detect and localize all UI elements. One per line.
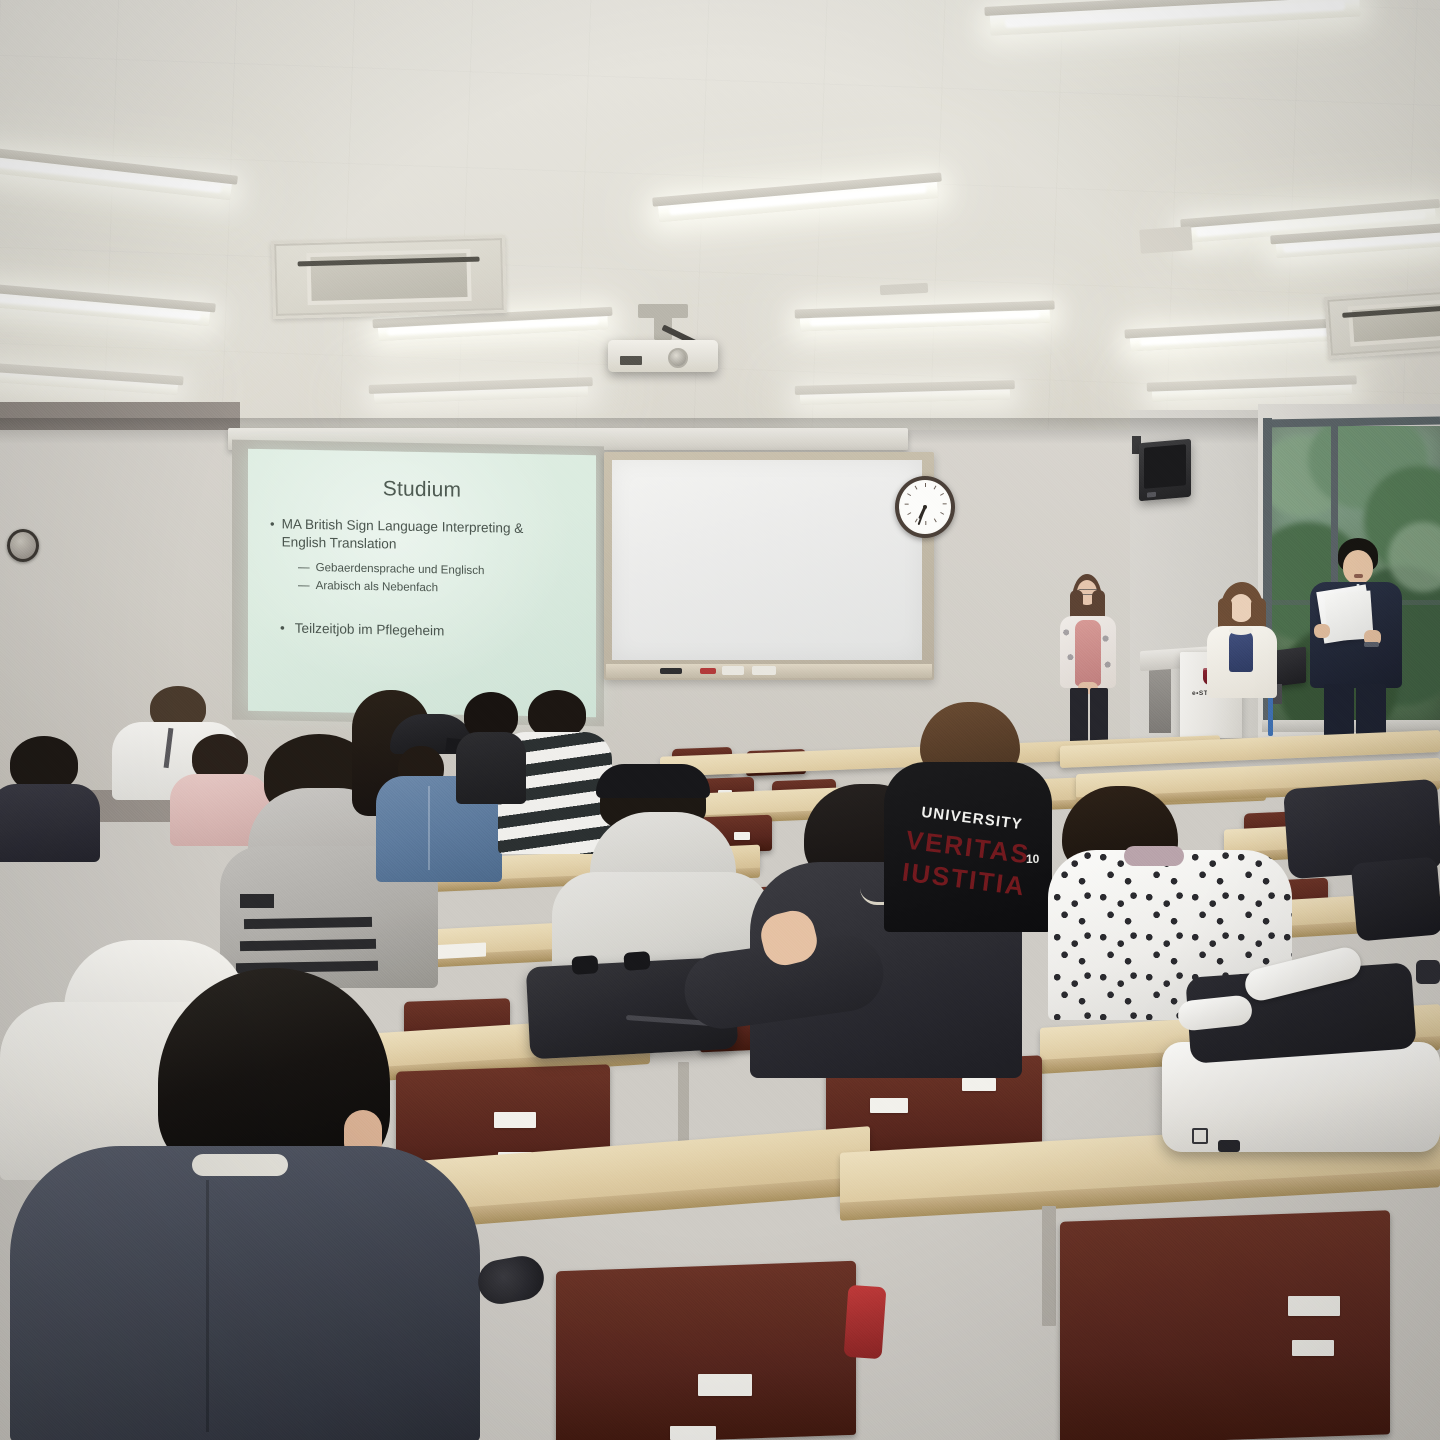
lecture-hall-photo: Studium • MA British Sign Language Inter… — [0, 0, 1440, 1440]
red-object — [844, 1285, 887, 1359]
projector-lens — [668, 348, 688, 368]
slide-subitem: — Arabisch als Nebenfach — [298, 577, 582, 600]
backpack-strap — [623, 951, 650, 971]
ceiling-ac-vent — [271, 235, 507, 319]
backpack-strap — [571, 955, 598, 975]
wristwatch-icon — [1364, 642, 1379, 647]
slide-bullet-text: MA British Sign Language Interpreting & … — [282, 515, 537, 556]
slide-bullet: • Teilzeitjob im Pflegeheim — [280, 620, 582, 641]
eraser-icon — [722, 666, 744, 675]
presenter-center — [1205, 582, 1279, 702]
tshirt-sleeve-mark: 10 — [1026, 852, 1048, 866]
collar — [1124, 846, 1184, 866]
small-wall-clock-icon — [7, 529, 39, 562]
chair-back — [1060, 1210, 1390, 1440]
presenter-left — [1056, 572, 1120, 744]
bag-clip-icon — [1218, 1140, 1240, 1152]
suit-jacket — [10, 1146, 480, 1440]
marker-icon — [660, 668, 682, 674]
bag-dring-icon — [1192, 1128, 1208, 1144]
ceiling-panel — [1139, 226, 1193, 254]
slide-title: Studium — [248, 475, 596, 505]
whiteboard — [612, 460, 922, 660]
black-top — [456, 732, 526, 804]
chair-back — [556, 1261, 856, 1440]
jacket-pattern — [1062, 620, 1076, 682]
presentation-slide: Studium • MA British Sign Language Inter… — [248, 449, 596, 717]
jacket-pattern — [1100, 620, 1114, 682]
bullet-marker-icon: • — [280, 620, 285, 635]
hair — [528, 690, 586, 738]
jacket — [0, 784, 100, 862]
slide-bullet-text: Teilzeitjob im Pflegeheim — [295, 620, 445, 638]
trousers — [1090, 688, 1108, 744]
cap-icon — [596, 764, 710, 798]
chair-label — [494, 1112, 536, 1128]
slide-subitem-text: Arabisch als Nebenfach — [316, 577, 438, 597]
shirt-collar — [192, 1154, 288, 1176]
ceiling-ac-vent — [1324, 287, 1440, 359]
projector-vent — [620, 356, 642, 365]
desk-leg — [678, 1062, 689, 1152]
vest-seam — [428, 786, 430, 870]
suit-seam — [206, 1180, 209, 1432]
slide-bullet: • MA British Sign Language Interpreting … — [270, 515, 582, 557]
desk-leg — [1042, 1206, 1056, 1326]
dash-marker-icon: — — [298, 577, 310, 595]
chair-label — [1292, 1340, 1334, 1356]
head — [1229, 594, 1253, 622]
presenter-right — [1306, 538, 1406, 744]
keys-icon — [1416, 960, 1440, 984]
mouth-icon — [1354, 574, 1363, 578]
dash-marker-icon: — — [298, 559, 310, 577]
head — [1343, 550, 1373, 584]
inner-top — [1229, 630, 1253, 672]
audience-left-edge — [0, 736, 96, 856]
chair-label — [670, 1426, 716, 1440]
eraser-icon — [752, 666, 776, 675]
wall-speaker — [1139, 439, 1191, 502]
slide-body: • MA British Sign Language Interpreting … — [270, 515, 582, 641]
trousers — [1070, 688, 1088, 744]
blouse — [1075, 620, 1101, 686]
hoodie-logo — [240, 894, 274, 908]
collar — [1229, 626, 1253, 635]
bag — [1351, 856, 1440, 941]
wall-clock — [895, 476, 955, 538]
audience-suit-front — [10, 968, 490, 1440]
bullet-marker-icon: • — [270, 515, 275, 551]
chair-label — [698, 1374, 752, 1396]
chair-label — [870, 1098, 908, 1113]
chair-label — [1288, 1296, 1340, 1316]
hand — [1314, 624, 1330, 638]
marker-icon — [700, 668, 716, 674]
audience-center-back — [456, 692, 526, 802]
audience-university-tee: UNIVERSITY VERITAS IUSTITIA 10 — [884, 702, 1052, 932]
